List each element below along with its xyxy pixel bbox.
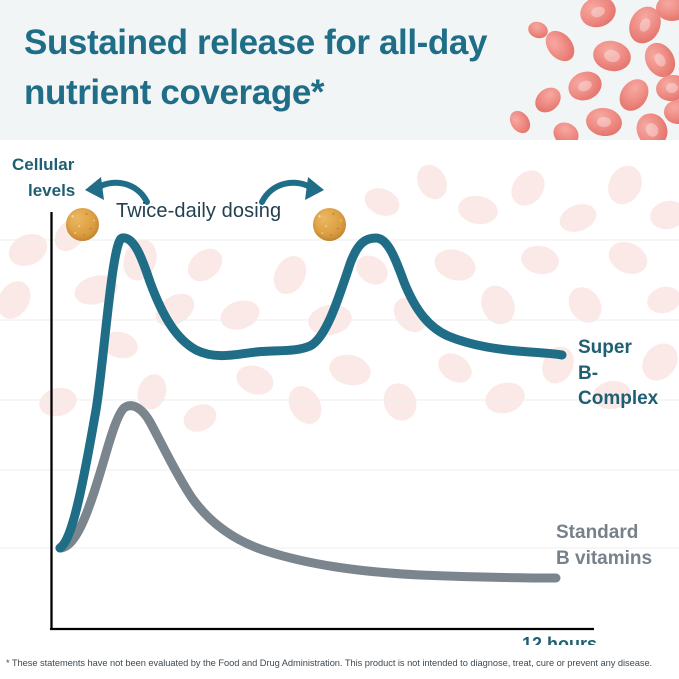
- infographic-page: Sustained release for all-day nutrient c…: [0, 0, 679, 679]
- page-title: Sustained release for all-day nutrient c…: [24, 18, 624, 117]
- series-label-super: Super B- Complex: [578, 335, 679, 412]
- series-line-super: [60, 238, 562, 548]
- chart-panel: Cellular levels Twice-daily dosing Super…: [0, 140, 679, 645]
- series-line-standard: [60, 406, 556, 578]
- series-label-standard: Standard B vitamins: [556, 520, 652, 571]
- dosing-annotation: Twice-daily dosing: [116, 200, 281, 223]
- tablet-icon-right: [313, 208, 346, 241]
- tablet-icon-left: [66, 208, 99, 241]
- y-axis-label-line2: levels: [12, 178, 122, 204]
- arrow-right-head: [305, 177, 324, 200]
- y-axis-label: Cellular levels: [12, 152, 122, 205]
- header-banner: Sustained release for all-day nutrient c…: [0, 0, 679, 140]
- x-axis-label: 12 hours: [522, 634, 597, 645]
- y-axis-label-line1: Cellular: [12, 155, 74, 174]
- footnote-disclaimer: * These statements have not been evaluat…: [6, 658, 676, 668]
